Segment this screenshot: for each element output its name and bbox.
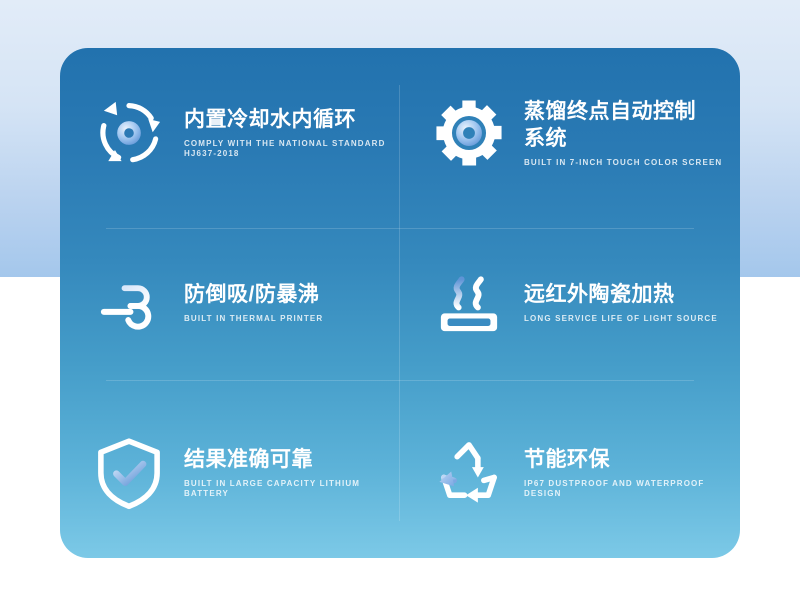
- feature-grid-infographic: 内置冷却水内循环 COMPLY WITH THE NATIONAL STANDA…: [0, 0, 800, 603]
- feature-item-infrared-heating[interactable]: 远红外陶瓷加热 LONG SERVICE LIFE OF LIGHT SOURC…: [400, 218, 740, 388]
- feature-item-accurate-results[interactable]: 结果准确可靠 BUILT IN LARGE CAPACITY LITHIUM B…: [60, 388, 400, 558]
- feature-title: 防倒吸/防暴沸: [184, 282, 394, 309]
- feature-item-auto-control[interactable]: 蒸馏终点自动控制 系统 BUILT IN 7-INCH TOUCH COLOR …: [400, 48, 740, 218]
- feature-text-block: 防倒吸/防暴沸 BUILT IN THERMAL PRINTER: [184, 282, 394, 323]
- wind-anti-suckback-icon: [90, 264, 168, 342]
- features-card: 内置冷却水内循环 COMPLY WITH THE NATIONAL STANDA…: [60, 48, 740, 558]
- feature-text-block: 节能环保 IP67 DUSTPROOF AND WATERPROOF DESIG…: [524, 447, 734, 498]
- feature-title: 内置冷却水内循环: [184, 107, 394, 134]
- water-circulation-icon: [90, 94, 168, 172]
- feature-title: 结果准确可靠: [184, 447, 394, 474]
- feature-text-block: 远红外陶瓷加热 LONG SERVICE LIFE OF LIGHT SOURC…: [524, 282, 734, 323]
- feature-item-energy-saving[interactable]: 节能环保 IP67 DUSTPROOF AND WATERPROOF DESIG…: [400, 388, 740, 558]
- feature-item-water-circulation[interactable]: 内置冷却水内循环 COMPLY WITH THE NATIONAL STANDA…: [60, 48, 400, 218]
- feature-text-block: 结果准确可靠 BUILT IN LARGE CAPACITY LITHIUM B…: [184, 447, 394, 498]
- shield-check-icon: [90, 434, 168, 512]
- recycle-icon: [430, 434, 508, 512]
- feature-subtitle: BUILT IN THERMAL PRINTER: [184, 314, 394, 324]
- feature-text-block: 蒸馏终点自动控制 系统 BUILT IN 7-INCH TOUCH COLOR …: [524, 99, 734, 167]
- feature-subtitle: COMPLY WITH THE NATIONAL STANDARD HJ637-…: [184, 139, 394, 158]
- feature-subtitle: LONG SERVICE LIFE OF LIGHT SOURCE: [524, 314, 734, 324]
- feature-title: 远红外陶瓷加热: [524, 282, 734, 309]
- feature-text-block: 内置冷却水内循环 COMPLY WITH THE NATIONAL STANDA…: [184, 107, 394, 158]
- infrared-heating-icon: [430, 264, 508, 342]
- feature-title: 蒸馏终点自动控制 系统: [524, 99, 734, 153]
- features-grid: 内置冷却水内循环 COMPLY WITH THE NATIONAL STANDA…: [60, 48, 740, 558]
- feature-title: 节能环保: [524, 447, 734, 474]
- feature-subtitle: BUILT IN LARGE CAPACITY LITHIUM BATTERY: [184, 479, 394, 498]
- feature-item-anti-suckback[interactable]: 防倒吸/防暴沸 BUILT IN THERMAL PRINTER: [60, 218, 400, 388]
- feature-subtitle: IP67 DUSTPROOF AND WATERPROOF DESIGN: [524, 479, 734, 498]
- gear-icon: [430, 94, 508, 172]
- feature-subtitle: BUILT IN 7-INCH TOUCH COLOR SCREEN: [524, 158, 734, 168]
